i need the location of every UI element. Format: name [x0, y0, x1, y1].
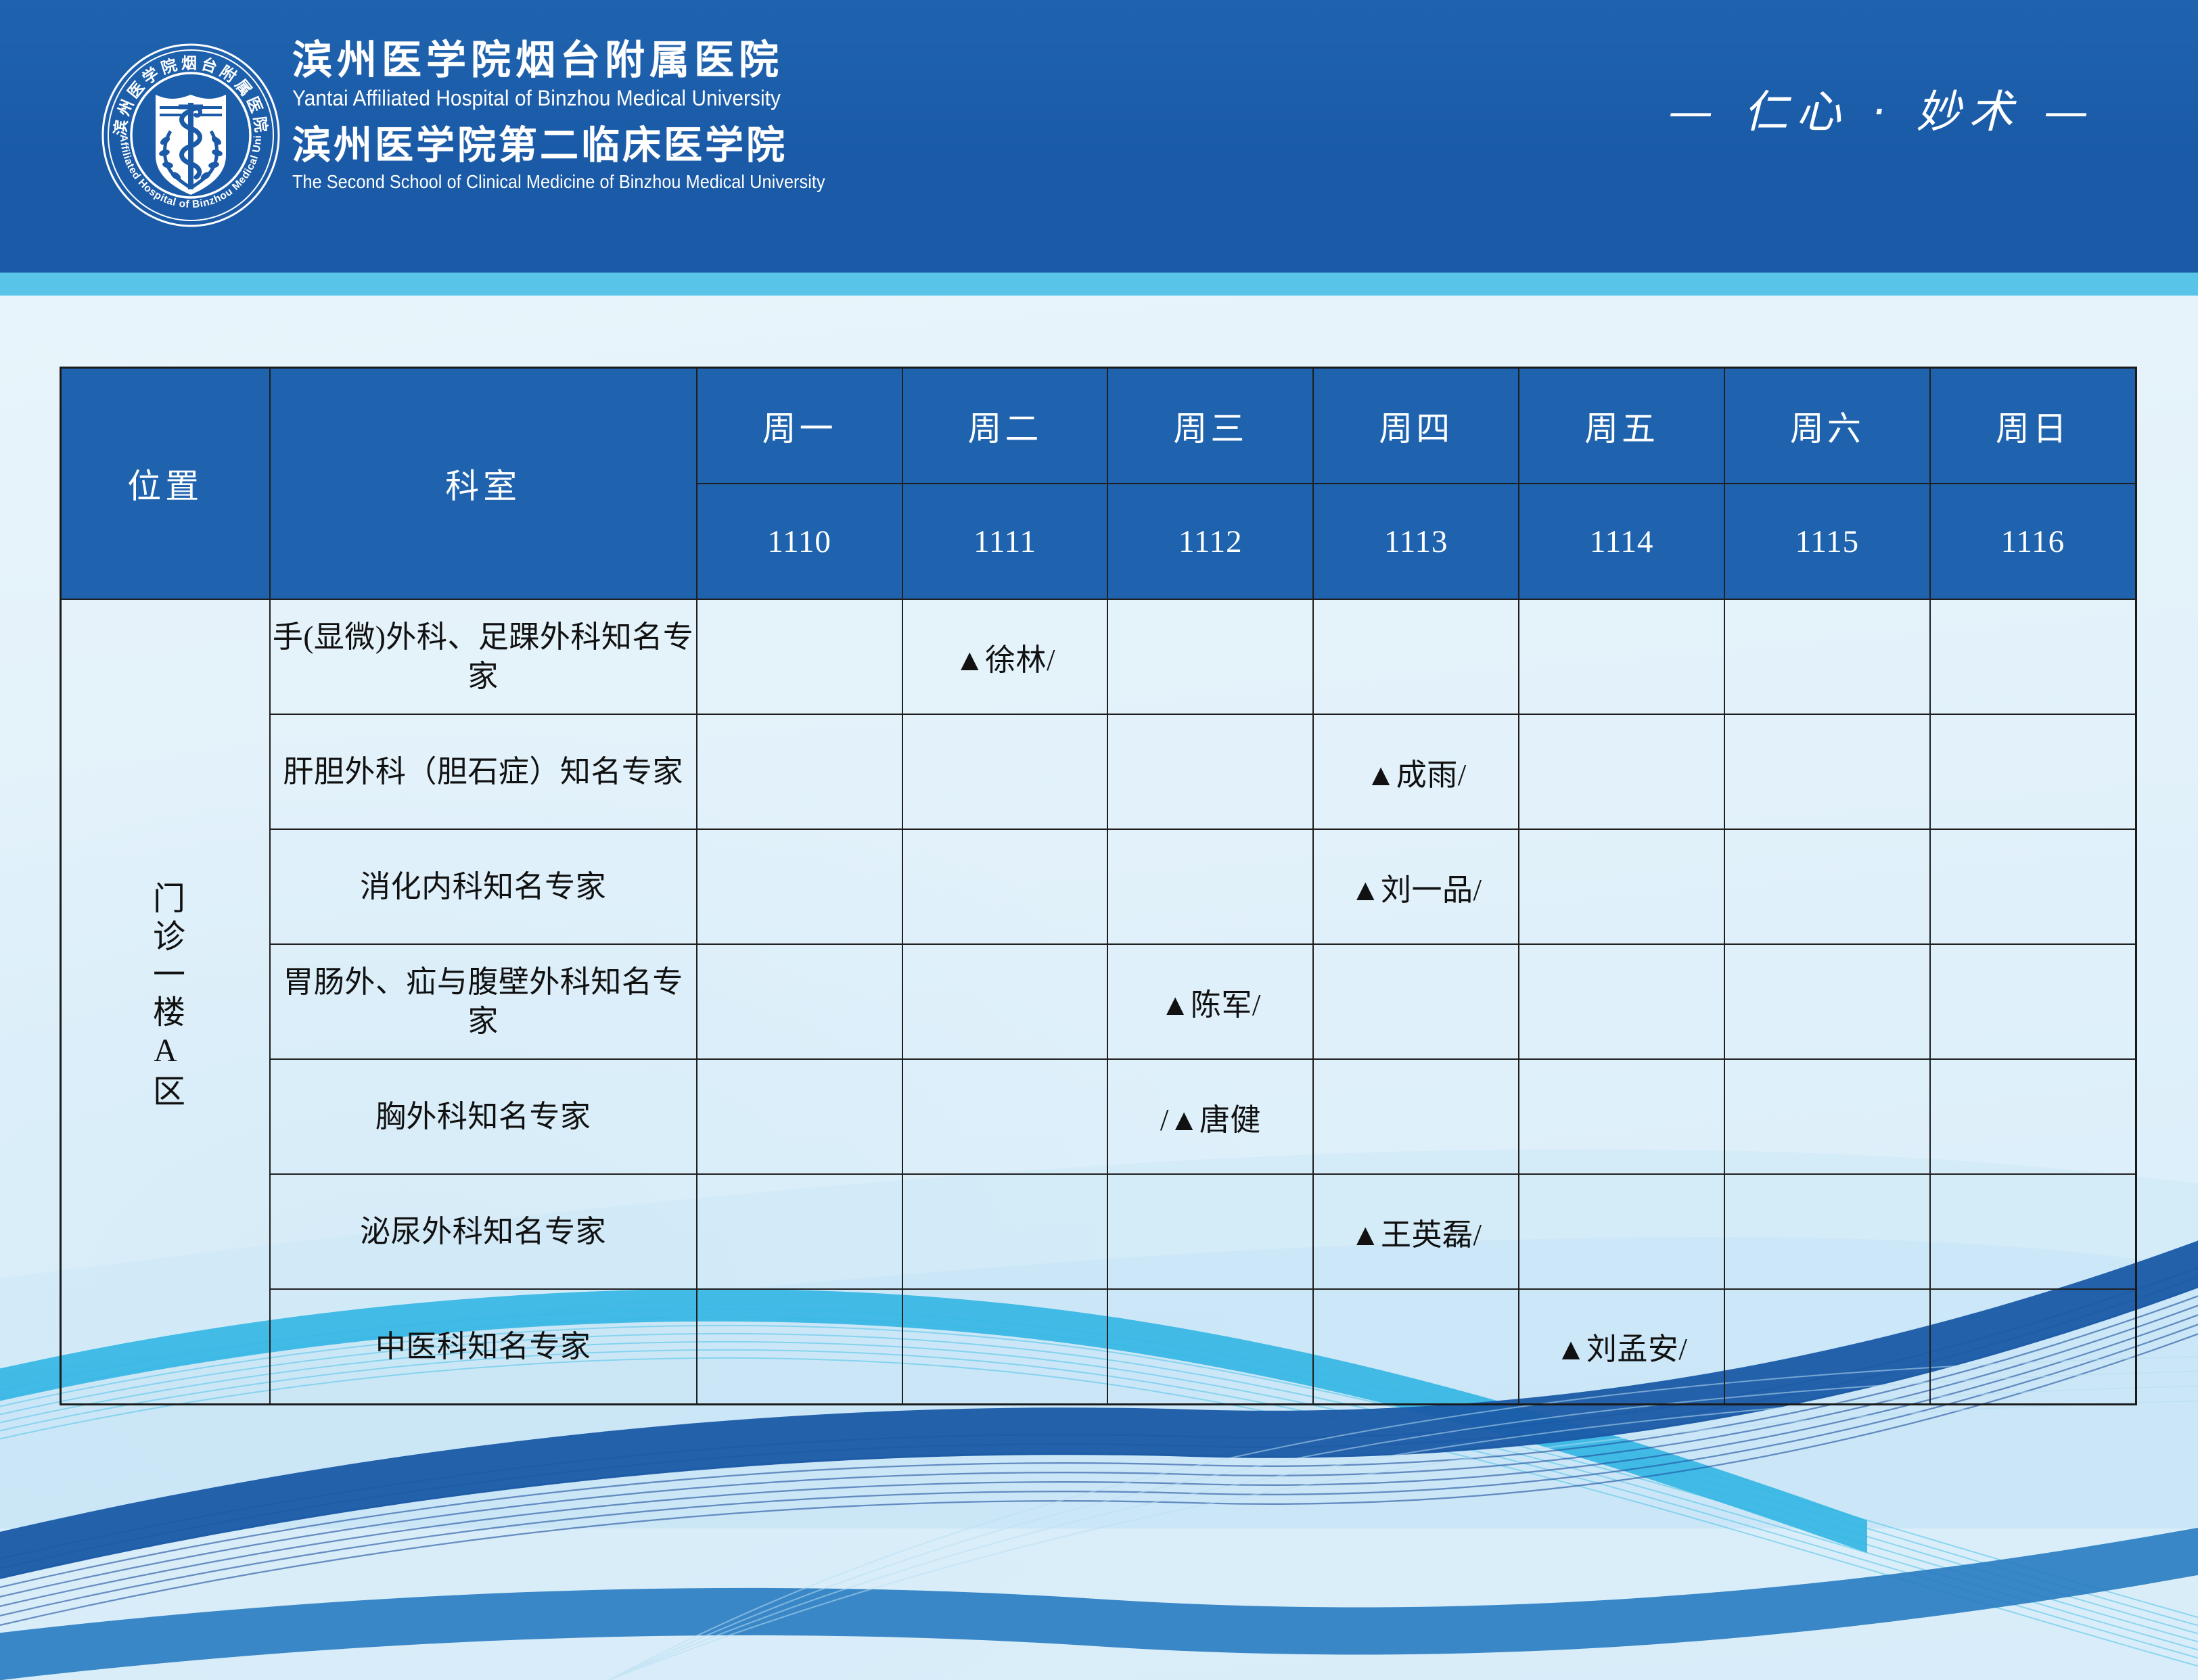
slot-r2-c4: [1519, 829, 1724, 944]
slot-r6-c4: ▲刘孟安/: [1519, 1289, 1724, 1404]
table-row: 胃肠外、疝与腹壁外科知名专家 ▲陈军/: [61, 944, 2136, 1059]
column-header-date-2: 1112: [1107, 484, 1313, 599]
column-header-day-2: 周三: [1107, 368, 1313, 484]
column-header-day-5: 周六: [1724, 368, 1930, 484]
slot-r6-c2: [1107, 1289, 1313, 1404]
table-row: 肝胆外科（胆石症）知名专家 ▲成雨/: [61, 714, 2136, 829]
department-cell-4: 胸外科知名专家: [270, 1059, 697, 1174]
school-name-en: The Second School of Clinical Medicine o…: [292, 170, 1120, 193]
slot-r0-c1: ▲徐林/: [902, 599, 1108, 714]
slot-r1-c4: [1519, 714, 1724, 829]
department-cell-2: 消化内科知名专家: [270, 829, 697, 944]
column-header-date-6: 1116: [1930, 484, 2136, 599]
slot-r4-c6: [1930, 1059, 2136, 1174]
column-header-date-1: 1111: [902, 484, 1108, 599]
slot-r0-c6: [1930, 599, 2136, 714]
hospital-name-en: Yantai Affiliated Hospital of Binzhou Me…: [292, 85, 1148, 112]
slot-r5-c4: [1519, 1174, 1724, 1289]
column-header-date-3: 1113: [1313, 484, 1519, 599]
expert-schedule-table: 位置 科室 周一 周二 周三 周四 周五 周六 周日 1110 1111 111…: [60, 367, 2137, 1405]
hospital-slogan: — 仁心 · 妙术 —: [1668, 76, 2097, 141]
slot-r0-c0: [697, 599, 902, 714]
slot-r6-c1: [902, 1289, 1108, 1404]
department-cell-3: 胃肠外、疝与腹壁外科知名专家: [270, 944, 697, 1059]
slot-r3-c0: [697, 944, 902, 1059]
slot-r6-c5: [1724, 1289, 1930, 1404]
slot-r2-c6: [1930, 829, 2136, 944]
slot-r4-c1: [902, 1059, 1108, 1174]
slot-r6-c6: [1930, 1289, 2136, 1404]
slot-r3-c3: [1313, 944, 1519, 1059]
table-row: 胸外科知名专家 /▲唐健: [61, 1059, 2136, 1174]
slot-r6-c3: [1313, 1289, 1519, 1404]
column-header-day-3: 周四: [1313, 368, 1519, 484]
table-row: 消化内科知名专家 ▲刘一品/: [61, 829, 2136, 944]
slot-r1-c5: [1724, 714, 1930, 829]
column-header-day-6: 周日: [1930, 368, 2136, 484]
slot-r4-c0: [697, 1059, 902, 1174]
slot-r3-c4: [1519, 944, 1724, 1059]
slot-r4-c2: /▲唐健: [1107, 1059, 1313, 1174]
table-row: 门诊一楼A区 手(显微)外科、足踝外科知名专家 ▲徐林/: [61, 599, 2136, 714]
slot-r3-c6: [1930, 944, 2136, 1059]
header-row-days: 位置 科室 周一 周二 周三 周四 周五 周六 周日: [61, 368, 2136, 484]
slot-r0-c5: [1724, 599, 1930, 714]
department-cell-5: 泌尿外科知名专家: [270, 1174, 697, 1289]
column-header-day-4: 周五: [1519, 368, 1724, 484]
column-header-location: 位置: [61, 368, 270, 600]
slot-r3-c2: ▲陈军/: [1107, 944, 1313, 1059]
department-cell-0: 手(显微)外科、足踝外科知名专家: [270, 599, 697, 714]
slot-r2-c5: [1724, 829, 1930, 944]
slot-r5-c0: [697, 1174, 902, 1289]
column-header-day-1: 周二: [902, 368, 1108, 484]
page-root: 滨州医学院烟台附属医院 Yantai Affiliated Hospital o…: [0, 0, 2198, 1680]
slot-r6-c0: [697, 1289, 902, 1404]
hospital-logo-icon: 滨州医学院烟台附属医院 Yantai Affiliated Hospital o…: [97, 35, 284, 229]
column-header-day-0: 周一: [697, 368, 902, 484]
school-name-cn: 滨州医学院第二临床医学院: [292, 125, 1212, 166]
slot-r1-c1: [902, 714, 1108, 829]
slot-r1-c2: [1107, 714, 1313, 829]
slot-r1-c6: [1930, 714, 2136, 829]
slot-r5-c1: [902, 1174, 1108, 1289]
slot-r4-c4: [1519, 1059, 1724, 1174]
table-head: 位置 科室 周一 周二 周三 周四 周五 周六 周日 1110 1111 111…: [61, 368, 2136, 600]
table-row: 泌尿外科知名专家 ▲王英磊/: [61, 1174, 2136, 1289]
slot-r3-c1: [902, 944, 1108, 1059]
column-header-date-4: 1114: [1519, 484, 1724, 599]
header-accent-stripe: [0, 273, 2198, 296]
slot-r5-c2: [1107, 1174, 1313, 1289]
column-header-department: 科室: [270, 368, 697, 600]
location-label: 门诊一楼A区: [145, 881, 186, 1112]
column-header-date-5: 1115: [1724, 484, 1930, 599]
department-cell-1: 肝胆外科（胆石症）知名专家: [270, 714, 697, 829]
table-body: 门诊一楼A区 手(显微)外科、足踝外科知名专家 ▲徐林/ 肝胆外科（胆石症）知名…: [61, 599, 2136, 1404]
slot-r5-c3: ▲王英磊/: [1313, 1174, 1519, 1289]
slot-r3-c5: [1724, 944, 1930, 1059]
slot-r0-c3: [1313, 599, 1519, 714]
department-cell-6: 中医科知名专家: [270, 1289, 697, 1404]
hospital-name-cn: 滨州医学院烟台附属医院: [292, 39, 1212, 82]
slot-r0-c4: [1519, 599, 1724, 714]
slot-r0-c2: [1107, 599, 1313, 714]
slot-r2-c0: [697, 829, 902, 944]
table-row: 中医科知名专家 ▲刘孟安/: [61, 1289, 2136, 1404]
hospital-name-block: 滨州医学院烟台附属医院 Yantai Affiliated Hospital o…: [292, 39, 1212, 193]
slot-r2-c1: [902, 829, 1108, 944]
slot-r4-c3: [1313, 1059, 1519, 1174]
slot-r4-c5: [1724, 1059, 1930, 1174]
location-cell: 门诊一楼A区: [61, 599, 270, 1404]
column-header-date-0: 1110: [697, 484, 902, 599]
slot-r5-c6: [1930, 1174, 2136, 1289]
schedule-table-container: 位置 科室 周一 周二 周三 周四 周五 周六 周日 1110 1111 111…: [60, 367, 2137, 1405]
slot-r1-c0: [697, 714, 902, 829]
slot-r1-c3: ▲成雨/: [1313, 714, 1519, 829]
slot-r2-c2: [1107, 829, 1313, 944]
slot-r2-c3: ▲刘一品/: [1313, 829, 1519, 944]
slot-r5-c5: [1724, 1174, 1930, 1289]
